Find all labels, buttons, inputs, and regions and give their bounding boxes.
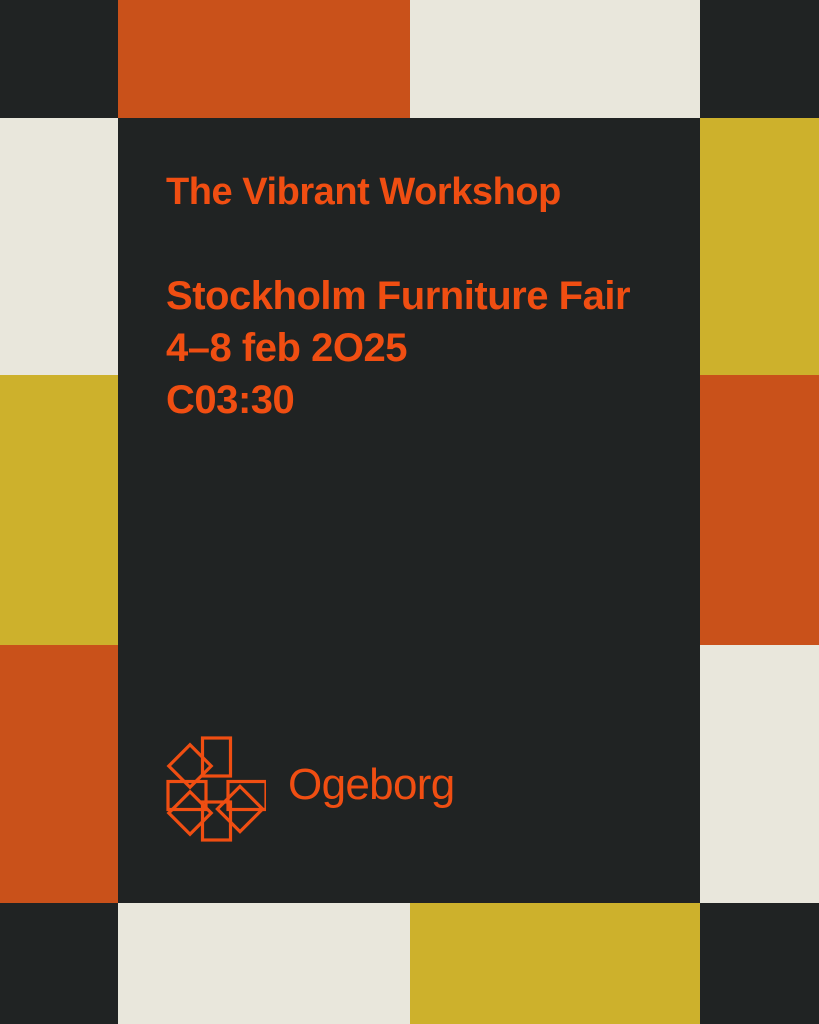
block-right-cream [700,645,819,903]
block-bottom-cream [118,903,410,1024]
block-left-cream [0,118,118,375]
block-bottom-yellow [410,903,700,1024]
block-right-orange [700,375,819,645]
page-title: The Vibrant Workshop [166,173,561,211]
block-left-yellow [0,375,118,645]
event-details: Stockholm Furniture Fair 4–8 feb 2O25 C0… [166,270,630,426]
ogeborg-pinwheel-logo-icon [166,736,266,842]
content-panel: The Vibrant Workshop Stockholm Furniture… [118,118,700,903]
poster-canvas: The Vibrant Workshop Stockholm Furniture… [0,0,819,1024]
event-dates: 4–8 feb 2O25 [166,322,630,374]
block-left-orange [0,645,118,903]
brand-wordmark: Ogeborg [288,763,455,807]
block-top-orange [118,0,410,118]
brand-lockup: Ogeborg [166,736,455,842]
event-venue: Stockholm Furniture Fair [166,270,630,322]
block-top-cream [410,0,700,118]
event-stand-number: C03:30 [166,374,630,426]
block-right-yellow [700,118,819,375]
